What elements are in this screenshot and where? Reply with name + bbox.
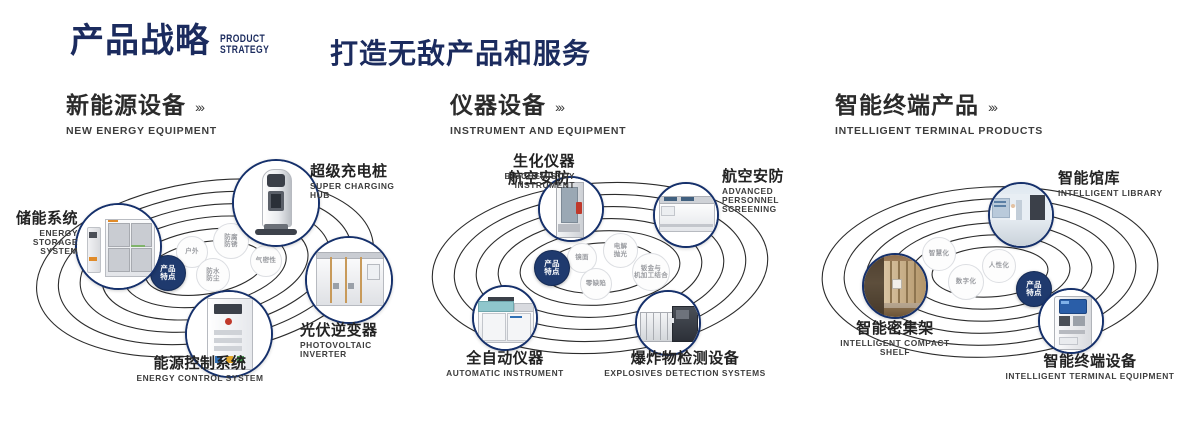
section-title-en: NEW ENERGY EQUIPMENT <box>66 125 217 137</box>
feature-bubble: 智慧化 <box>922 237 956 271</box>
node-label-energy-control-system: 能源控制系统 ENERGY CONTROL SYSTEM <box>85 355 315 383</box>
node-intelligent-compact-shelf[interactable] <box>862 253 928 319</box>
self-service-kiosk-icon <box>1040 290 1102 352</box>
node-label-biochemistry-instrument: 生化仪器 BIOCHEMISTRY INSTRUMENT <box>425 153 575 190</box>
chevron-right-icon: ››› <box>555 100 563 114</box>
section-title-instrument: 仪器设备 ››› INSTRUMENT AND EQUIPMENT <box>450 95 626 137</box>
node-automatic-instrument[interactable] <box>472 285 538 351</box>
node-label-photovoltaic-inverter: 光伏逆变器 PHOTOVOLTAIC INVERTER <box>300 322 410 359</box>
smart-library-room-icon <box>990 184 1052 246</box>
node-label-explosives-detection-systems: 爆炸物检测设备 EXPLOSIVES DETECTION SYSTEMS <box>590 350 780 378</box>
personnel-screening-machine-icon <box>655 184 717 246</box>
node-intelligent-library[interactable] <box>988 182 1054 248</box>
page-subtitle: 打造无敌产品和服务 <box>330 32 591 72</box>
node-label-intelligent-compact-shelf: 智能密集架 INTELLIGENT COMPACT SHELF <box>820 320 970 357</box>
feature-bubble: 气密性 <box>250 245 282 277</box>
product-strategy-infographic: 产品战略 PRODUCT STRATEGY 打造无敌产品和服务 新能源设备 ››… <box>0 0 1200 422</box>
node-label-energy-storage-system: 储能系统 ENERGY STORAGE SYSTEM <box>0 210 78 256</box>
feature-bubble: 防水 防尘 <box>196 258 230 292</box>
section-title-en: INTELLIGENT TERMINAL PRODUCTS <box>835 125 1043 137</box>
feature-bubble: 零缺陷 <box>580 268 612 300</box>
node-super-charging-hub[interactable] <box>232 159 320 247</box>
cluster-intelligent-terminal: 智慧化 数字化 人性化 产品 特点 智能馆库 INTELLIGENT LIBRA… <box>790 150 1190 412</box>
section-title-intelligent: 智能终端产品 ››› INTELLIGENT TERMINAL PRODUCTS <box>835 95 1043 137</box>
energy-storage-cabinet-icon <box>77 205 160 288</box>
core-bubble-product-features: 产品 特点 <box>534 250 570 286</box>
chevron-right-icon: ››› <box>988 100 996 114</box>
feature-bubble: 钣金与 机加工结合 <box>632 253 670 291</box>
section-title-cn: 仪器设备 <box>450 95 546 118</box>
chevron-right-icon: ››› <box>195 100 203 114</box>
feature-bubble: 电解 抛光 <box>603 233 638 268</box>
node-label-intelligent-terminal-equipment: 智能终端设备 INTELLIGENT TERMINAL EQUIPMENT <box>990 353 1190 381</box>
node-photovoltaic-inverter[interactable] <box>305 236 393 324</box>
node-intelligent-terminal-equipment[interactable] <box>1038 288 1104 354</box>
section-title-cn: 智能终端产品 <box>835 95 979 118</box>
node-energy-storage-system[interactable] <box>75 203 162 290</box>
node-advanced-personnel-screening[interactable] <box>653 182 719 248</box>
section-title-cn: 新能源设备 <box>66 95 186 118</box>
node-label-advanced-personnel-screening: 航空安防 ADVANCED PERSONNEL SCREENING <box>722 168 800 214</box>
page-title: 产品战略 <box>70 24 210 58</box>
pv-inverter-cabinet-icon <box>307 238 391 322</box>
section-title-new-energy: 新能源设备 ››› NEW ENERGY EQUIPMENT <box>66 95 217 137</box>
node-explosives-detection-systems[interactable] <box>635 290 701 356</box>
automatic-instrument-icon <box>474 287 536 349</box>
cluster-instrument: 镜面 电解 抛光 钣金与 机加工结合 零缺陷 产品 特点 航空安防 生化仪器 B… <box>400 150 800 412</box>
cluster-new-energy: 户外 防腐 防锈 防水 防尘 气密性 产品 特点 储能系统 ENERGY STO… <box>10 150 410 412</box>
page-header: 产品战略 PRODUCT STRATEGY <box>70 24 283 58</box>
feature-bubble: 数字化 <box>948 264 984 300</box>
charging-pile-icon <box>234 161 318 245</box>
node-label-intelligent-library: 智能馆库 INTELLIGENT LIBRARY <box>1058 170 1163 198</box>
node-label-automatic-instrument: 全自动仪器 AUTOMATIC INSTRUMENT <box>420 350 590 378</box>
section-title-en: INSTRUMENT AND EQUIPMENT <box>450 125 626 137</box>
compact-shelving-icon <box>864 255 926 317</box>
page-title-en: PRODUCT STRATEGY <box>220 34 269 56</box>
explosives-detector-icon <box>637 292 699 354</box>
feature-bubble: 人性化 <box>982 249 1016 283</box>
